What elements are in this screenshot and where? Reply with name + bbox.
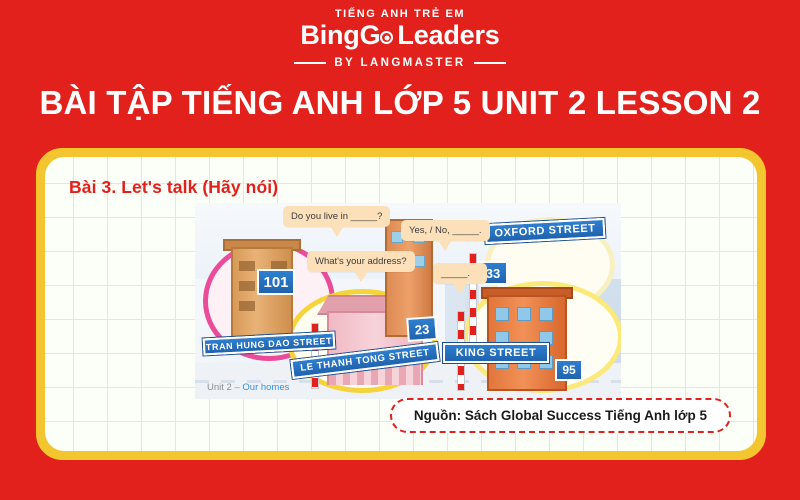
speech-bubble-blank-answer: _____. [433,263,487,284]
building-window [517,307,531,321]
byline-text: BY LANGMASTER [334,57,465,69]
byline-rule-left [294,62,326,64]
house-window [239,301,255,311]
speech-bubble-do-you-live-in: Do you live in _____? [283,206,390,227]
house-number-101: 101 [257,269,295,295]
content-card: Bài 3. Let's talk (Hãy nói) [36,148,766,460]
byline-rule-right [474,62,506,64]
house-number-95: 95 [555,359,583,381]
speech-bubble-yes-no: Yes, / No, _____. [401,220,490,241]
brand-name-right: Leaders [397,21,499,50]
source-badge: Nguồn: Sách Global Success Tiếng Anh lớp… [390,398,731,433]
brand-logo: TIẾNG ANH TRẺ EM BingG Leaders BY LANGMA… [0,8,800,69]
figure-caption-topic: Our homes [242,382,289,393]
content-card-inner: Bài 3. Let's talk (Hãy nói) [45,157,757,451]
page-title: BÀI TẬP TIẾNG ANH LỚP 5 UNIT 2 LESSON 2 [0,84,800,122]
registered-mark-icon [380,31,393,44]
house-window [413,255,425,267]
brand-name-left: BingG [300,21,380,50]
figure-caption: Unit 2 – Our homes [207,382,289,393]
building-window [495,307,509,321]
house-window [239,281,255,291]
brand-kicker: TIẾNG ANH TRẺ EM [335,8,465,20]
street-sign-king: KING STREET [443,343,549,363]
house-window [239,261,255,271]
exercise-title: Bài 3. Let's talk (Hãy nói) [69,177,278,198]
building-window [539,307,553,321]
speech-bubble-whats-your-address: What's your address? [307,251,415,272]
house-number-23: 23 [406,316,438,342]
brand-name: BingG Leaders [300,21,499,50]
brand-byline: BY LANGMASTER [294,57,505,69]
textbook-figure: 101 TRAN HUNG DAO STREET 23 LE THANH TON… [195,203,621,399]
figure-caption-unit: Unit 2 – [207,382,242,393]
